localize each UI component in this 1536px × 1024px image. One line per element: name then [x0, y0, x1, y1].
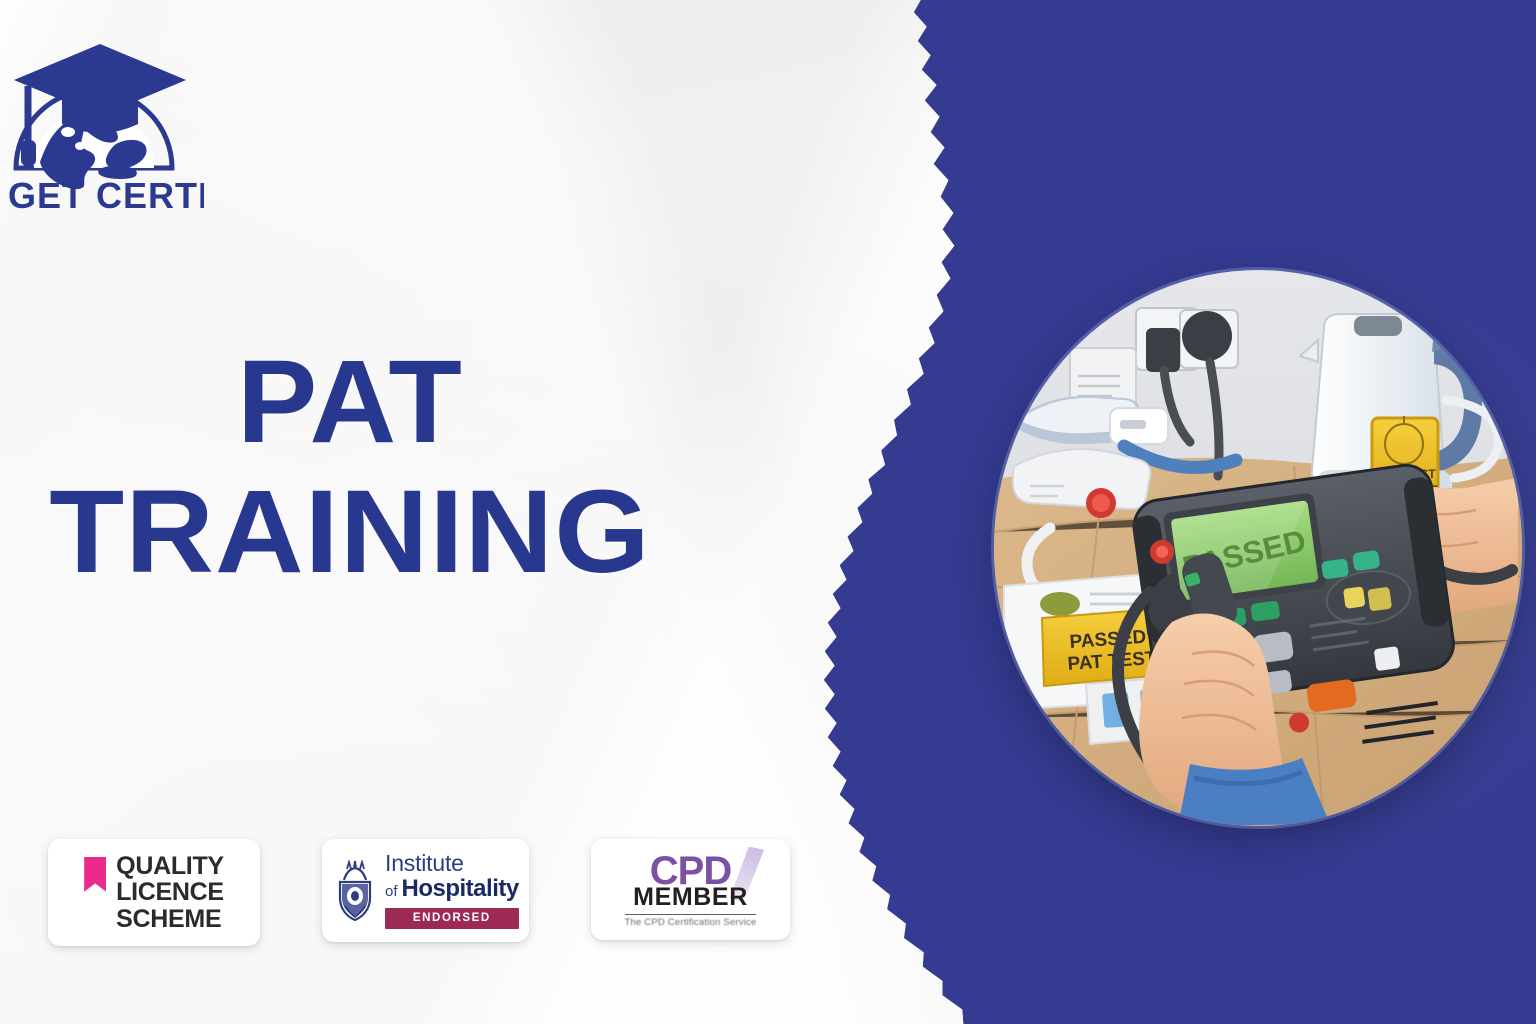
page-title-line-2: TRAINING	[0, 475, 714, 591]
cpd-line-2: MEMBER	[603, 885, 778, 910]
ioh-prefix: of	[385, 884, 398, 899]
graduation-cap-globe-icon	[14, 44, 186, 189]
qls-line-3: SCHEME	[116, 906, 224, 933]
pink-bookmark-icon	[84, 857, 106, 892]
badge-institute-of-hospitality[interactable]: Institute of Hospitality ENDORSED	[322, 839, 529, 942]
page-title: PAT TRAINING	[0, 345, 700, 590]
ioh-line-1: Institute	[385, 852, 519, 875]
ioh-line-2: Hospitality	[402, 877, 519, 901]
qls-line-2: LICENCE	[116, 879, 224, 906]
cpd-divider	[625, 914, 756, 915]
brand-logo-text: GET CERTIFY	[8, 175, 204, 215]
banner-root: GET CERTIFY PAT TRAINING QUALITY LICENCE…	[0, 0, 1536, 1024]
page-title-line-1: PAT	[0, 345, 707, 461]
badge-quality-licence-scheme[interactable]: QUALITY LICENCE SCHEME	[48, 839, 260, 946]
brand-logo[interactable]: GET CERTIFY	[4, 20, 204, 215]
heraldic-crest-icon	[334, 860, 376, 922]
accreditation-badge-row: QUALITY LICENCE SCHEME Inst	[48, 839, 790, 946]
hero-illustration: PASSED PAT TEST TAT TEST TAT TEST	[994, 270, 1522, 826]
cpd-subtitle: The CPD Certification Service	[603, 918, 778, 929]
badge-cpd-member[interactable]: CPD MEMBER The CPD Certification Service	[591, 839, 790, 940]
ioh-endorsed-ribbon: ENDORSED	[385, 908, 519, 929]
qls-line-1: QUALITY	[116, 853, 224, 880]
